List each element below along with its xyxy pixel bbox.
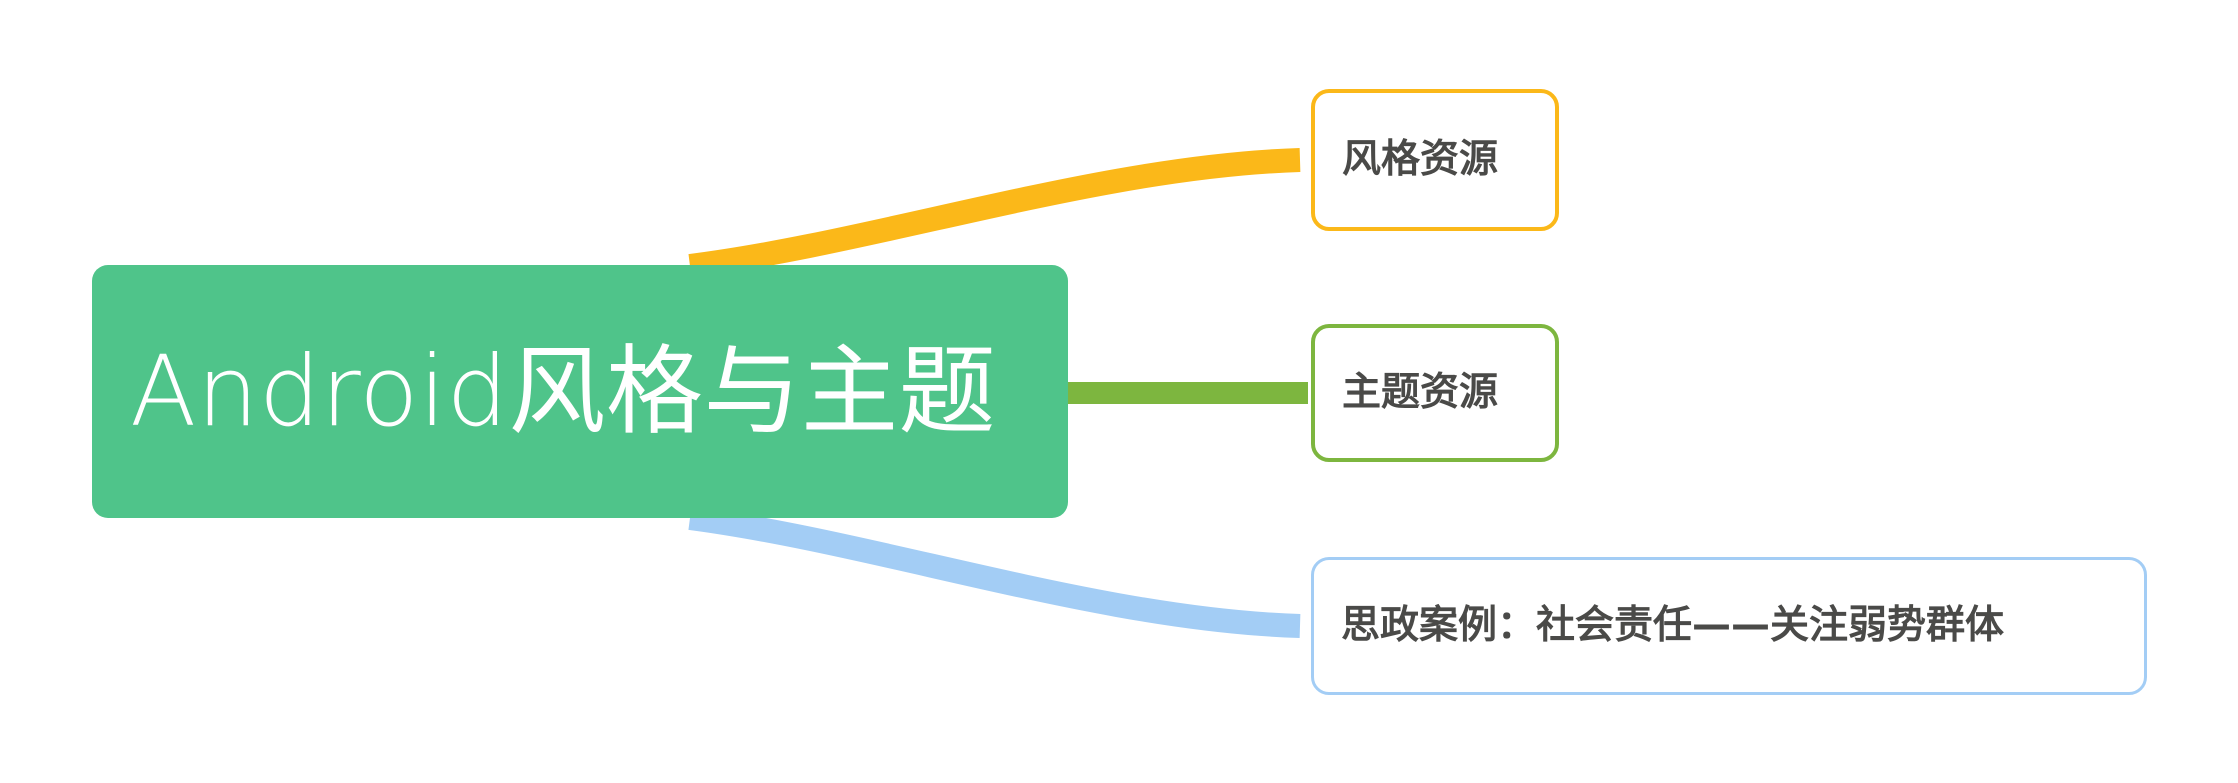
branch-node-style-resources-label: 风格资源: [1342, 139, 1498, 182]
branch-node-style-resources[interactable]: 风格资源: [1311, 89, 1559, 231]
connector-style-resources: [690, 160, 1300, 266]
branch-node-civics-case[interactable]: 思政案例：社会责任——关注弱势群体: [1311, 557, 2147, 695]
root-node-label: Android风格与主题: [130, 341, 996, 443]
branch-node-theme-resources-label: 主题资源: [1342, 372, 1498, 415]
branch-node-civics-case-label: 思政案例：社会责任——关注弱势群体: [1341, 605, 2004, 648]
root-node[interactable]: Android风格与主题: [92, 265, 1068, 518]
mindmap-canvas: Android风格与主题 风格资源 主题资源 思政案例：社会责任——关注弱势群体: [0, 0, 2238, 783]
branch-node-theme-resources[interactable]: 主题资源: [1311, 324, 1559, 462]
connector-civics-case: [690, 518, 1300, 626]
